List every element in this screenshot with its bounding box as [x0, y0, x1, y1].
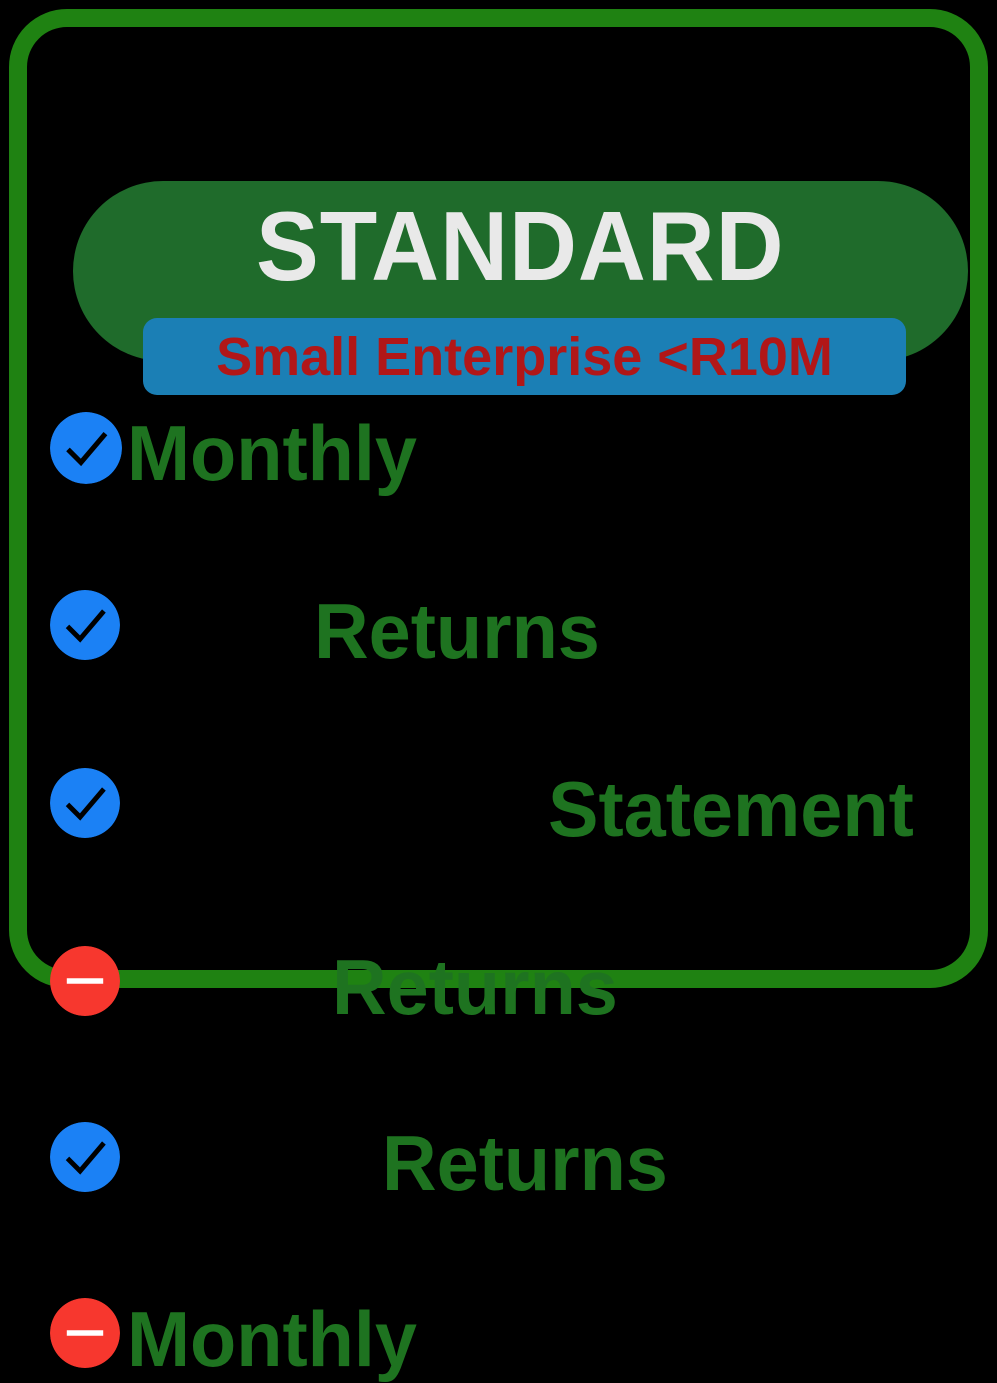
check-circle-icon[interactable] [50, 412, 122, 484]
feature-label: Returns [332, 948, 618, 1026]
check-circle-icon[interactable] [50, 1122, 120, 1192]
page-title: STANDARD [256, 193, 785, 301]
tier-badge: Small Enterprise <R10M [143, 318, 906, 395]
minus-circle-icon[interactable] [50, 946, 120, 1016]
feature-row[interactable]: Returns [27, 744, 997, 832]
feature-row[interactable]: Statement [27, 568, 997, 656]
tier-badge-label: Small Enterprise <R10M [216, 326, 833, 388]
feature-list: MonthlyReturnsStatementReturnsReturnsMon… [27, 392, 997, 920]
feature-row[interactable]: Monthly [27, 392, 997, 480]
pricing-plan-card: STANDARD Small Enterprise <R10M MonthlyR… [9, 9, 988, 988]
feature-row[interactable]: Returns [27, 480, 997, 568]
feature-row[interactable]: Monthly [27, 832, 997, 920]
feature-row[interactable]: Returns [27, 656, 997, 744]
feature-label: Returns [382, 1124, 668, 1202]
minus-circle-icon[interactable] [50, 1298, 120, 1368]
feature-label: Monthly [127, 1300, 417, 1378]
